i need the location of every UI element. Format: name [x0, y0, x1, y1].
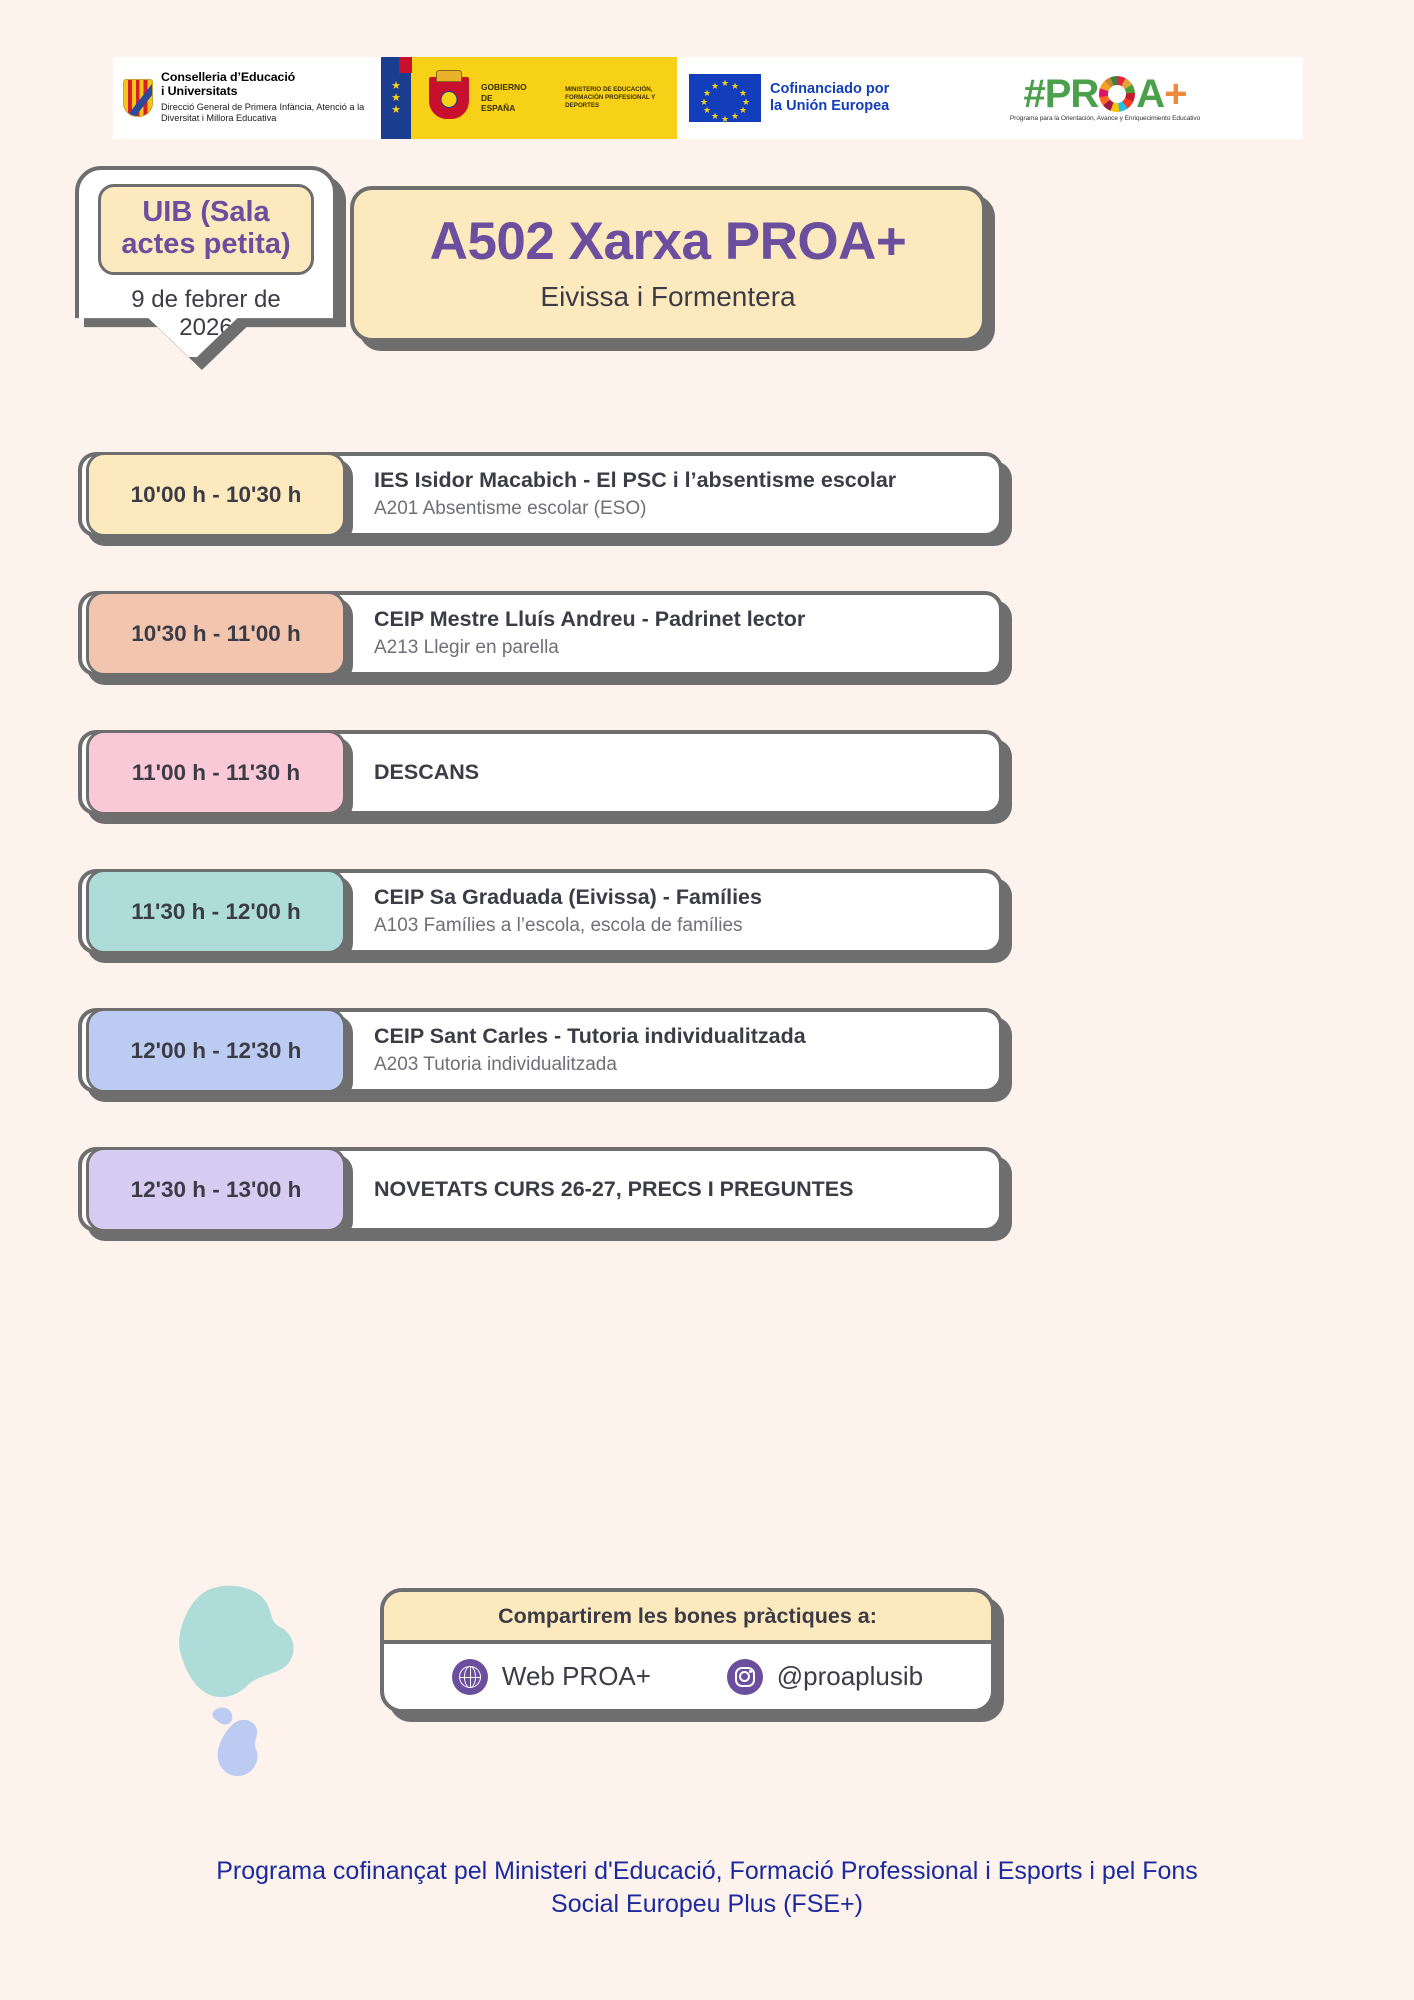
schedule-row: CEIP Sa Graduada (Eivissa) - FamíliesA10…	[78, 869, 1003, 954]
star-icon: ★	[391, 106, 401, 115]
session-time-label: 11'30 h - 12'00 h	[131, 899, 301, 925]
spain-coat-of-arms-icon	[427, 75, 471, 121]
eu-flag-icon: ★ ★ ★ ★ ★ ★ ★ ★ ★ ★ ★ ★	[689, 74, 761, 122]
session-time-chip: 12'00 h - 12'30 h	[86, 1008, 346, 1093]
schedule-row: CEIP Sant Carles - Tutoria individualitz…	[78, 1008, 1003, 1093]
star-icon: ★	[391, 82, 401, 91]
event-date: 9 de febrer de 2026	[106, 286, 306, 343]
session-title: DESCANS	[374, 760, 981, 785]
session-time-label: 12'00 h - 12'30 h	[131, 1038, 302, 1064]
eu-line1: Cofinanciado por	[770, 81, 889, 98]
web-proa-label: Web PROA+	[502, 1661, 651, 1692]
plus-glyph: +	[1164, 74, 1186, 114]
instagram-icon	[727, 1659, 763, 1695]
proa-plus-logo: # P R A + Programa para la Orientación, …	[907, 57, 1303, 139]
social-links-card: Compartirem les bones pràctiques a: Web …	[380, 1588, 995, 1713]
venue-name: UIB (Sala actes petita)	[98, 184, 314, 275]
session-code: A201 Absentisme escolar (ESO)	[374, 497, 981, 521]
session-code: A103 Famílies a l’escola, escola de famí…	[374, 914, 981, 938]
session-title: CEIP Sant Carles - Tutoria individualitz…	[374, 1024, 981, 1049]
eu-line2: la Unión Europea	[770, 98, 889, 115]
session-title: CEIP Mestre Lluís Andreu - Padrinet lect…	[374, 607, 981, 632]
session-title: IES Isidor Macabich - El PSC i l’absenti…	[374, 468, 981, 493]
venue-card: UIB (Sala actes petita) 9 de febrer de 2…	[75, 166, 337, 361]
eu-spain-flag-strip-icon: ★ ★ ★	[381, 57, 411, 139]
page-subtitle: Eivissa i Formentera	[540, 281, 795, 313]
conselleria-line1: Conselleria d’Educació	[161, 71, 381, 85]
session-code: A213 Llegir en parella	[374, 636, 981, 660]
schedule-row: IES Isidor Macabich - El PSC i l’absenti…	[78, 452, 1003, 537]
event-title-card: A502 Xarxa PROA+ Eivissa i Formentera	[350, 186, 986, 342]
session-code: A203 Tutoria individualitzada	[374, 1053, 981, 1077]
proa-subtitle: Programa para la Orientación, Avance y E…	[1010, 115, 1200, 122]
letter-r: R	[1070, 74, 1098, 114]
social-heading: Compartirem les bones pràctiques a:	[384, 1592, 991, 1644]
gobierno-espana-logo: ★ ★ ★ GOBIERNO DE ESPAÑA MINISTERIO DE E…	[381, 57, 677, 139]
session-time-chip: 10'00 h - 10'30 h	[86, 452, 346, 537]
session-time-label: 10'00 h - 10'30 h	[131, 482, 302, 508]
page-title: A502 Xarxa PROA+	[430, 215, 907, 268]
instagram-handle: @proaplusib	[777, 1661, 923, 1692]
ministry-label: MINISTERIO DE EDUCACIÓN, FORMACIÓN PROFE…	[565, 86, 677, 110]
session-time-chip: 12'30 h - 13'00 h	[86, 1147, 346, 1232]
schedule-row: CEIP Mestre Lluís Andreu - Padrinet lect…	[78, 591, 1003, 676]
letter-a: A	[1136, 74, 1164, 114]
session-title: NOVETATS CURS 26-27, PRECS I PREGUNTES	[374, 1177, 981, 1202]
schedule-row: DESCANS11'00 h - 11'30 h	[78, 730, 1003, 815]
web-proa-link[interactable]: Web PROA+	[452, 1659, 651, 1695]
session-time-chip: 11'00 h - 11'30 h	[86, 730, 346, 815]
session-time-label: 12'30 h - 13'00 h	[131, 1177, 302, 1203]
sdg-wheel-icon	[1099, 76, 1135, 112]
conselleria-logo: Conselleria d’Educació i Universitats Di…	[113, 57, 381, 139]
schedule-row: NOVETATS CURS 26-27, PRECS I PREGUNTES12…	[78, 1147, 1003, 1232]
eivissa-formentera-map-icon	[140, 1575, 355, 1825]
conselleria-line2: i Universitats	[161, 85, 381, 99]
session-title: CEIP Sa Graduada (Eivissa) - Famílies	[374, 885, 981, 910]
eu-cofinanced-logo: ★ ★ ★ ★ ★ ★ ★ ★ ★ ★ ★ ★ Cofinanciado por…	[677, 57, 907, 139]
session-time-label: 10'30 h - 11'00 h	[131, 621, 301, 647]
session-time-chip: 10'30 h - 11'00 h	[86, 591, 346, 676]
catalonia-shield-icon	[123, 79, 153, 117]
globe-icon	[452, 1659, 488, 1695]
instagram-link[interactable]: @proaplusib	[727, 1659, 923, 1695]
conselleria-subtitle: Direcció General de Primera Infància, At…	[161, 102, 381, 125]
letter-p: P	[1045, 74, 1071, 114]
gobierno-line2: DE ESPAÑA	[481, 93, 527, 114]
gobierno-line1: GOBIERNO	[481, 82, 527, 93]
star-icon: ★	[391, 94, 401, 103]
footer-note: Programa cofinançat pel Ministeri d'Educ…	[0, 1855, 1414, 1920]
institutional-logo-banner: Conselleria d’Educació i Universitats Di…	[113, 57, 1303, 139]
hash-glyph: #	[1023, 74, 1044, 114]
session-time-label: 11'00 h - 11'30 h	[132, 760, 300, 786]
session-time-chip: 11'30 h - 12'00 h	[86, 869, 346, 954]
